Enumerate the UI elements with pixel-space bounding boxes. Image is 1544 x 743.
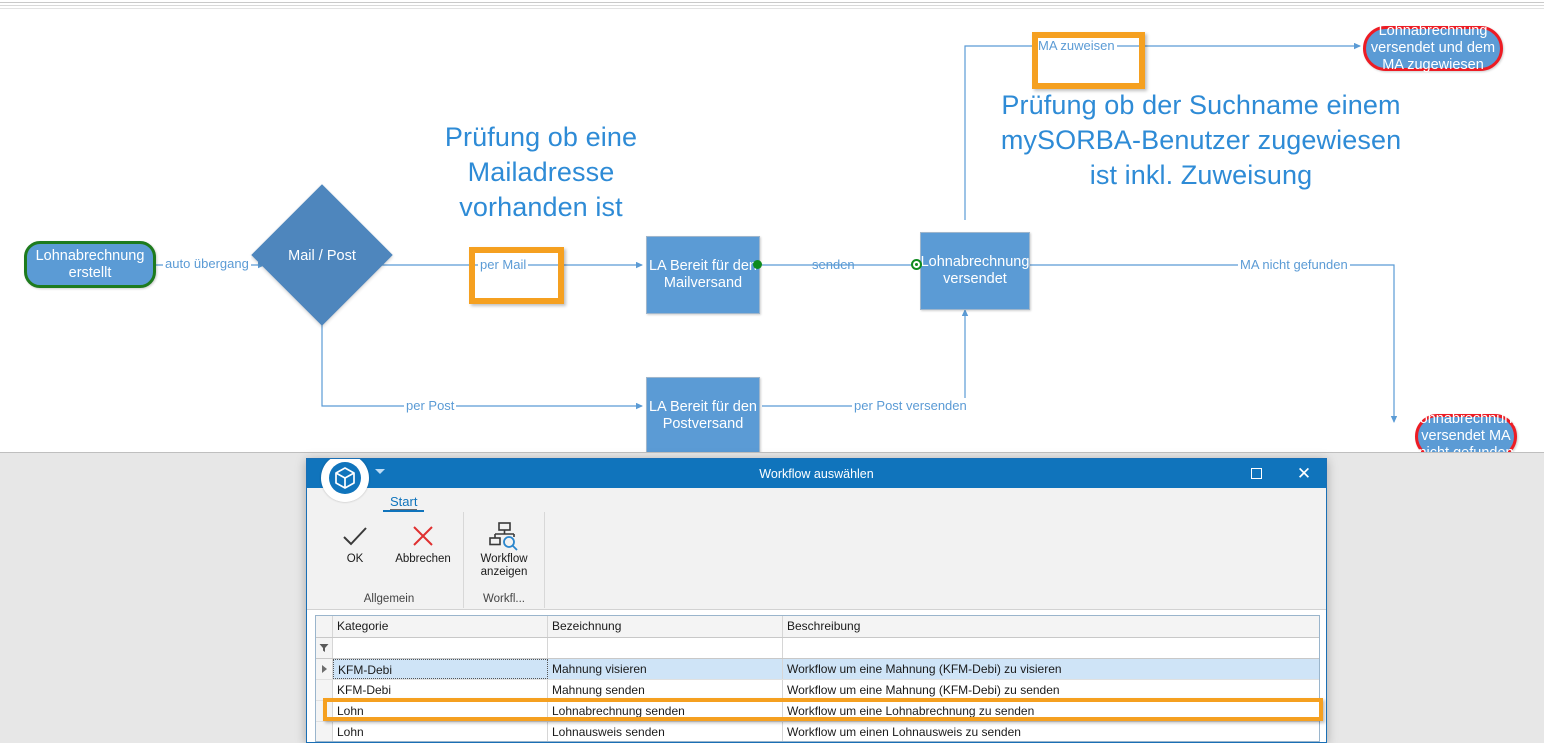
table-row[interactable]: KFM-Debi Mahnung visieren Workflow um ei… [316, 659, 1319, 680]
ribbon-body: OK Abbrechen Allgemein [307, 512, 1326, 608]
row-indicator-arrow-icon [322, 665, 327, 673]
grid-header-indicator [316, 616, 333, 637]
row-indicator [316, 680, 333, 700]
edge-label-ma-nicht-gefunden: MA nicht gefunden [1238, 257, 1350, 273]
row-indicator [316, 722, 333, 742]
edge-label-auto: auto übergang [163, 256, 251, 272]
grid-filter-row[interactable] [316, 638, 1319, 659]
node-start-label: Lohnabrechnung erstellt [27, 248, 153, 282]
filter-icon [319, 643, 329, 653]
close-button[interactable]: ✕ [1282, 459, 1326, 488]
row-indicator [316, 701, 333, 721]
check-icon [340, 519, 370, 553]
cube-logo-icon [328, 461, 362, 495]
connector-dot-sent-in [911, 259, 922, 270]
dialog-titlebar[interactable]: Workflow auswählen ✕ [307, 459, 1326, 488]
workflow-view-icon [488, 519, 520, 553]
ribbon-group-workflow: Workflow anzeigen Workfl... [464, 512, 545, 608]
highlight-per-mail [469, 247, 564, 304]
maximize-button[interactable] [1234, 459, 1278, 488]
top-rule-3 [0, 8, 1544, 9]
cell-bezeichnung: Lohnausweis senden [548, 722, 783, 742]
logo-dropdown-caret-icon[interactable] [375, 469, 385, 474]
node-decision-label: Mail / Post [272, 245, 372, 267]
cell-kategorie: KFM-Debi [333, 680, 548, 700]
filter-input-kategorie[interactable] [333, 638, 548, 658]
edge-label-senden: senden [810, 257, 857, 273]
table-row[interactable]: Lohn Lohnabrechnung senden Workflow um e… [316, 701, 1319, 722]
ribbon: Start OK [307, 488, 1326, 610]
tab-start-label: Start [390, 494, 417, 510]
node-sent[interactable]: Lohnabrechnung versendet [920, 232, 1030, 310]
heading-mail-check: Prüfung ob eine Mailadresse vorhanden is… [400, 120, 682, 225]
workflow-diagram: Prüfung ob eine Mailadresse vorhanden is… [0, 10, 1544, 452]
filter-input-bezeichnung[interactable] [548, 638, 783, 658]
cell-bezeichnung: Lohnabrechnung senden [548, 701, 783, 721]
node-post-ready[interactable]: LA Bereit für den Postversand [646, 377, 760, 455]
node-end-assigned-label: Lohnabrechnung versendet und dem MA zuge… [1366, 23, 1500, 74]
node-mail-ready-label: LA Bereit für den Mailversand [647, 258, 759, 292]
table-row[interactable]: KFM-Debi Mahnung senden Workflow um eine… [316, 680, 1319, 701]
show-workflow-button-label: Workflow anzeigen [470, 553, 538, 579]
table-row[interactable]: Lohn Lohnausweis senden Workflow um eine… [316, 722, 1319, 742]
ribbon-group-allgemein-title: Allgemein [321, 593, 457, 608]
cell-kategorie: Lohn [333, 701, 548, 721]
connector-dot-mail-out [753, 260, 762, 269]
row-indicator [316, 659, 333, 679]
column-header-kategorie[interactable]: Kategorie [333, 616, 548, 637]
screen: Prüfung ob eine Mailadresse vorhanden is… [0, 0, 1544, 743]
maximize-icon [1251, 468, 1262, 479]
column-header-beschreibung[interactable]: Beschreibung [783, 616, 1319, 637]
column-header-bezeichnung[interactable]: Bezeichnung [548, 616, 783, 637]
edge-label-per-post: per Post [404, 398, 456, 414]
grid-body: KFM-Debi Mahnung visieren Workflow um ei… [316, 659, 1319, 742]
cell-beschreibung: Workflow um eine Mahnung (KFM-Debi) zu v… [783, 659, 1319, 679]
node-start[interactable]: Lohnabrechnung erstellt [24, 241, 156, 288]
node-end-assigned[interactable]: Lohnabrechnung versendet und dem MA zuge… [1363, 26, 1503, 71]
ribbon-tabstrip: Start [307, 488, 1326, 512]
edge-label-per-post-versenden: per Post versenden [852, 398, 969, 414]
cell-beschreibung: Workflow um eine Lohnabrechnung zu sende… [783, 701, 1319, 721]
cancel-button[interactable]: Abbrechen [389, 519, 457, 566]
ok-button[interactable]: OK [321, 519, 389, 566]
cancel-button-label: Abbrechen [395, 553, 451, 566]
node-mail-ready[interactable]: LA Bereit für den Mailversand [646, 236, 760, 314]
node-sent-label: Lohnabrechnung versendet [921, 254, 1030, 288]
cell-beschreibung: Workflow um einen Lohnausweis zu senden [783, 722, 1319, 742]
workflow-grid[interactable]: Kategorie Bezeichnung Beschreibung [315, 615, 1320, 742]
cross-icon [409, 519, 437, 553]
close-icon: ✕ [1297, 464, 1311, 484]
grid-header-row: Kategorie Bezeichnung Beschreibung [316, 616, 1319, 638]
tab-start[interactable]: Start [381, 494, 426, 512]
filter-input-beschreibung[interactable] [783, 638, 1319, 658]
cell-kategorie: KFM-Debi [333, 659, 548, 679]
top-rule-1 [0, 2, 1544, 3]
highlight-ma-zuweisen [1032, 32, 1145, 89]
workflow-select-dialog: Workflow auswählen ✕ Start [306, 458, 1327, 743]
dialog-title: Workflow auswählen [759, 467, 873, 481]
heading-user-check: Prüfung ob der Suchname einem mySORBA-Be… [985, 88, 1417, 193]
ribbon-group-allgemein: OK Abbrechen Allgemein [315, 512, 464, 608]
filter-icon-cell[interactable] [316, 638, 333, 658]
cell-bezeichnung: Mahnung visieren [548, 659, 783, 679]
diagram-connectors [0, 10, 1544, 452]
cell-beschreibung: Workflow um eine Mahnung (KFM-Debi) zu s… [783, 680, 1319, 700]
ribbon-group-workflow-title: Workfl... [470, 593, 538, 608]
ok-button-label: OK [347, 553, 364, 566]
node-post-ready-label: LA Bereit für den Postversand [647, 399, 759, 433]
cell-bezeichnung: Mahnung senden [548, 680, 783, 700]
show-workflow-button[interactable]: Workflow anzeigen [470, 519, 538, 579]
cell-kategorie: Lohn [333, 722, 548, 742]
top-rule-2 [0, 5, 1544, 6]
